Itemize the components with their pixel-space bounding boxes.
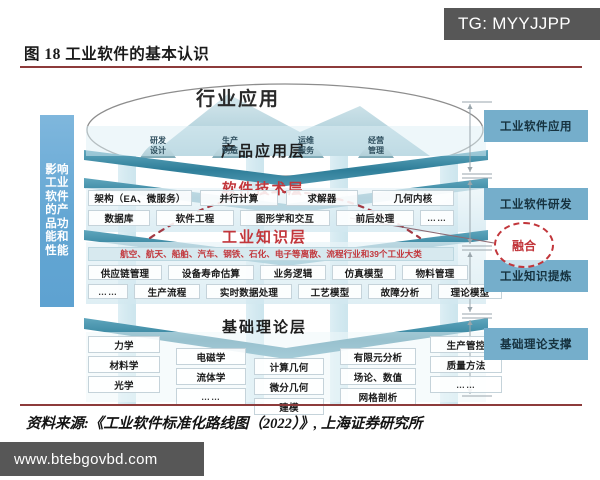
software-box-geometry-kernel: 几何内核 xyxy=(372,190,454,206)
hill-label-service-line2: 服务 xyxy=(289,146,323,156)
software-box-parallel-computing: 并行计算 xyxy=(200,190,278,206)
software-box-pre-post-processing: 前后处理 xyxy=(336,210,414,226)
knowledge-industry-banner: 航空、航天、船舶、汽车、钢铁、石化、电子等离散、流程行业和39个工业大类 xyxy=(88,247,454,261)
hill-label-service-line1: 运维 xyxy=(289,136,323,146)
knowledge-box-process-model: 工艺模型 xyxy=(298,284,362,299)
industry-application-title: 行业应用 xyxy=(196,84,280,111)
fusion-bubble: 融合 xyxy=(494,222,554,268)
site-url-watermark-badge: www.btebgovbd.com xyxy=(0,442,204,476)
source-citation: 资料来源:《工业软件标准化路线图（2022）》, 上海证券研究所 xyxy=(26,412,422,433)
hill-label-rd: 研发 设计 xyxy=(141,136,175,155)
theory-box-mesh-analysis: 网格剖析 xyxy=(340,388,416,405)
left-impact-bar: 影响工业软件的产品功能和性能 xyxy=(40,115,74,307)
software-box-graphics-interaction: 图形学和交互 xyxy=(240,210,330,226)
layer-title-theory: 基础理论层 xyxy=(222,316,307,337)
hill-label-manufacturing: 生产 制造 xyxy=(213,136,247,155)
hill-label-management: 经营 管理 xyxy=(359,136,393,155)
source-divider-bottom xyxy=(20,404,582,406)
hill-label-management-line1: 经营 xyxy=(359,136,393,146)
telegram-watermark-badge: TG: MYYJJPP xyxy=(444,8,600,40)
theory-box-computational-geometry: 计算几何 xyxy=(254,358,324,375)
knowledge-box-fault-analysis: 故障分析 xyxy=(368,284,432,299)
theory-box-field-numerical: 场论、数值 xyxy=(340,368,416,385)
legend-industrial-software-application: 工业软件应用 xyxy=(484,110,588,142)
theory-box-differential-geometry: 微分几何 xyxy=(254,378,324,395)
diagram-canvas: 影响工业软件的产品功能和性能 行业应用 产品应用层 软件技术层 工业知识层 基础… xyxy=(0,70,600,404)
theory-box-mechanics: 力学 xyxy=(88,336,160,353)
hill-label-management-line2: 管理 xyxy=(359,146,393,156)
knowledge-box-simulation-model: 仿真模型 xyxy=(332,265,396,280)
figure-title: 图 18 工业软件的基本认识 xyxy=(24,42,209,64)
figure-page: TG: MYYJJPP www.btebgovbd.com 图 18 工业软件的… xyxy=(0,0,600,480)
knowledge-box-ellipsis: …… xyxy=(88,284,128,299)
title-divider-top xyxy=(20,66,582,68)
layer-title-knowledge: 工业知识层 xyxy=(222,226,307,247)
software-box-architecture: 架构（EA、微服务） xyxy=(88,190,192,206)
theory-box-materials: 材料学 xyxy=(88,356,160,373)
hill-label-rd-line2: 设计 xyxy=(141,146,175,156)
software-box-solver: 求解器 xyxy=(286,190,358,206)
theory-box-finite-element: 有限元分析 xyxy=(340,348,416,365)
legend-basic-theory-support: 基础理论支撑 xyxy=(484,328,588,360)
hill-label-manufacturing-line1: 生产 xyxy=(213,136,247,146)
knowledge-box-supply-chain: 供应链管理 xyxy=(88,265,162,280)
hill-label-manufacturing-line2: 制造 xyxy=(213,146,247,156)
theory-box-col5-ellipsis: …… xyxy=(430,376,502,393)
legend-industrial-software-rd: 工业软件研发 xyxy=(484,188,588,220)
software-box-software-engineering: 软件工程 xyxy=(156,210,234,226)
theory-box-col2-ellipsis: …… xyxy=(176,388,246,405)
knowledge-box-business-logic: 业务逻辑 xyxy=(260,265,326,280)
hill-label-rd-line1: 研发 xyxy=(141,136,175,146)
knowledge-box-realtime-data: 实时数据处理 xyxy=(206,284,292,299)
knowledge-box-production-process: 生产流程 xyxy=(134,284,200,299)
software-box-ellipsis: …… xyxy=(420,210,454,226)
software-box-database: 数据库 xyxy=(88,210,150,226)
knowledge-box-equipment-life: 设备寿命估算 xyxy=(168,265,254,280)
theory-box-electromagnetics: 电磁学 xyxy=(176,348,246,365)
knowledge-box-material-management: 物料管理 xyxy=(402,265,468,280)
theory-box-fluid-mechanics: 流体学 xyxy=(176,368,246,385)
hill-label-service: 运维 服务 xyxy=(289,136,323,155)
theory-box-optics: 光学 xyxy=(88,376,160,393)
